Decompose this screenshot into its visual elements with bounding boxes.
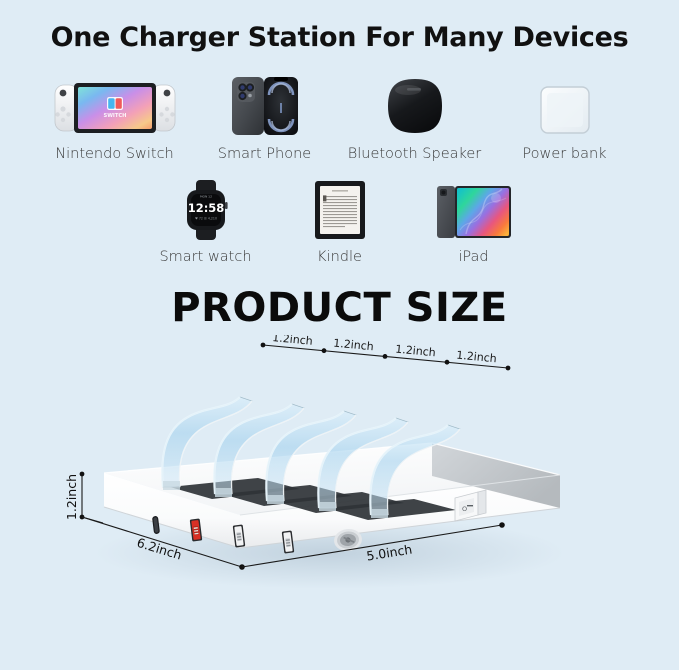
- device-label: iPad: [458, 249, 488, 265]
- power-switch-on-mark: [467, 505, 473, 506]
- svg-text:MON 12: MON 12: [200, 195, 212, 199]
- device-label: Power bank: [522, 146, 606, 162]
- product-size-heading: PRODUCT SIZE: [0, 285, 679, 331]
- slot-dimension-label-4: 1.2inch: [456, 349, 498, 366]
- kindle-icon: [314, 178, 366, 240]
- smart-phone-icon: [228, 75, 302, 137]
- bluetooth-speaker-icon: [384, 75, 446, 137]
- slot-dimension-group: 1.2inch 1.2inch 1.2inch 1.2inch: [261, 335, 511, 370]
- device-label: Nintendo Switch: [55, 146, 174, 162]
- device-item-ipad: iPad: [407, 178, 541, 265]
- device-label: Kindle: [317, 249, 362, 265]
- device-label: Smart Phone: [218, 146, 311, 162]
- watch-time-text: 12:58: [187, 201, 224, 215]
- power-switch-off-mark: O: [462, 505, 467, 513]
- svg-text:SWITCH: SWITCH: [103, 113, 126, 119]
- infographic-page: One Charger Station For Many Devices: [0, 0, 679, 670]
- device-item-smart-watch: MON 12 12:58 ♥ 72 ☰ 4,210 Smart watch: [139, 178, 273, 265]
- slot-dimension-label-2: 1.2inch: [333, 337, 375, 354]
- ipad-icon: [436, 178, 512, 240]
- product-illustration: 1.2inch 1.2inch 1.2inch 1.2inch: [0, 335, 679, 615]
- smart-watch-icon: MON 12 12:58 ♥ 72 ☰ 4,210: [182, 178, 230, 240]
- device-label: Bluetooth Speaker: [348, 146, 482, 162]
- page-title: One Charger Station For Many Devices: [0, 0, 679, 53]
- device-item-nintendo-switch: SWITCH Nintendo Switch: [40, 75, 190, 162]
- height-dimension-group: 1.2inch: [64, 472, 103, 523]
- power-bank-icon: [536, 75, 594, 137]
- device-item-power-bank: Power bank: [490, 75, 640, 162]
- device-item-bluetooth-speaker: Bluetooth Speaker: [340, 75, 490, 162]
- device-item-smart-phone: Smart Phone: [190, 75, 340, 162]
- height-dimension-label: 1.2inch: [64, 474, 79, 520]
- nintendo-switch-icon: SWITCH: [54, 75, 176, 137]
- device-label: Smart watch: [159, 249, 251, 265]
- svg-text:♥ 72 ☰ 4,210: ♥ 72 ☰ 4,210: [195, 217, 217, 221]
- slot-dimension-label-3: 1.2inch: [395, 343, 437, 360]
- device-item-kindle: Kindle: [273, 178, 407, 265]
- device-row-secondary: MON 12 12:58 ♥ 72 ☰ 4,210 Smart watch: [0, 178, 679, 265]
- device-row-primary: SWITCH Nintendo Switch: [0, 75, 679, 162]
